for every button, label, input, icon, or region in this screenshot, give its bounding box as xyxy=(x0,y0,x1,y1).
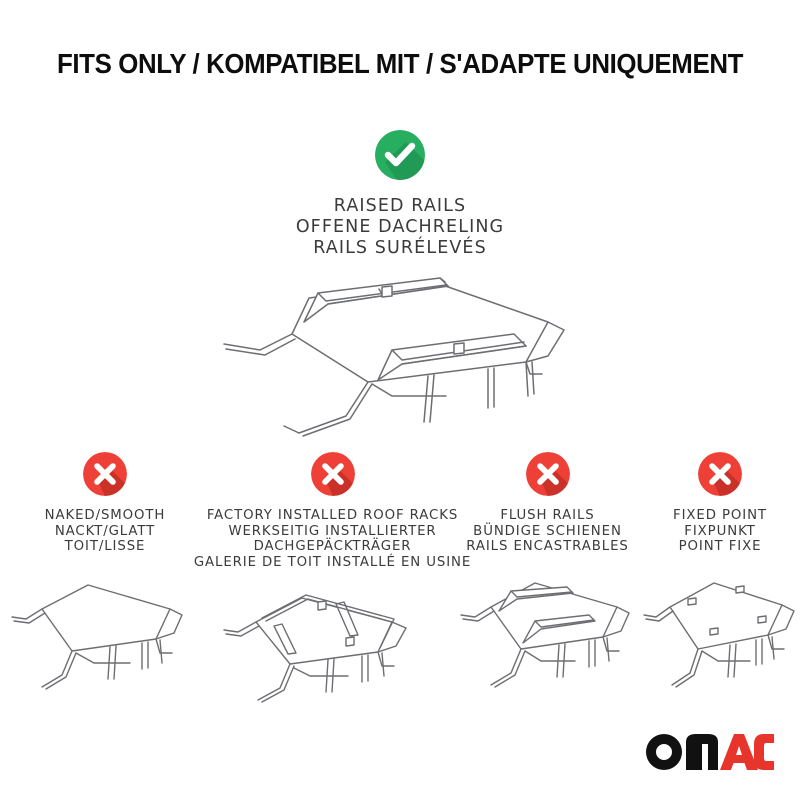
denied-1-line-4: GALERIE DE TOIT INSTALLÉ EN USINE xyxy=(194,555,471,571)
omac-logo-mark xyxy=(646,732,774,772)
denied-0-line-3: TOIT/LISSE xyxy=(45,539,166,555)
x-circle-icon xyxy=(311,452,355,496)
denied-2-line-1: FLUSH RAILS xyxy=(466,508,628,524)
compatibility-infographic: FITS ONLY / KOMPATIBEL MIT / S'ADAPTE UN… xyxy=(0,0,800,800)
incompatible-item-naked-smooth: NAKED/SMOOTH NACKT/GLATT TOIT/LISSE xyxy=(0,452,210,713)
incompatible-caption: NAKED/SMOOTH NACKT/GLATT TOIT/LISSE xyxy=(45,508,166,555)
denied-3-line-3: POINT FIXE xyxy=(673,539,767,555)
incompatible-item-fixed-point: FIXED POINT FIXPUNKT POINT FIXE xyxy=(640,452,800,713)
approved-line-1: RAISED RAILS xyxy=(296,196,504,217)
x-circle-icon xyxy=(83,452,127,496)
page-title: FITS ONLY / KOMPATIBEL MIT / S'ADAPTE UN… xyxy=(24,48,776,80)
check-circle-icon xyxy=(375,130,425,180)
approved-line-3: RAILS SURÉLEVÉS xyxy=(296,238,504,259)
approved-caption: RAISED RAILS OFFENE DACHRELING RAILS SUR… xyxy=(296,196,504,259)
omac-logo xyxy=(646,732,774,772)
approved-line-2: OFFENE DACHRELING xyxy=(296,217,504,238)
incompatible-caption: FLUSH RAILS BÜNDIGE SCHIENEN RAILS ENCAS… xyxy=(466,508,628,555)
x-circle-icon xyxy=(698,452,742,496)
x-circle-icon xyxy=(526,452,570,496)
denied-2-line-2: BÜNDIGE SCHIENEN xyxy=(466,524,628,540)
denied-2-line-3: RAILS ENCASTRABLES xyxy=(466,539,628,555)
incompatible-caption: FIXED POINT FIXPUNKT POINT FIXE xyxy=(673,508,767,555)
car-roof-naked-smooth-illustration xyxy=(0,563,210,713)
denied-1-line-1: FACTORY INSTALLED ROOF RACKS xyxy=(194,508,471,524)
incompatible-section: NAKED/SMOOTH NACKT/GLATT TOIT/LISSE xyxy=(0,452,800,752)
car-roof-with-fixed-points-illustration xyxy=(640,563,800,713)
incompatible-item-flush-rails: FLUSH RAILS BÜNDIGE SCHIENEN RAILS ENCAS… xyxy=(455,452,640,713)
approved-section: RAISED RAILS OFFENE DACHRELING RAILS SUR… xyxy=(0,130,800,259)
denied-3-line-1: FIXED POINT xyxy=(673,508,767,524)
car-roof-with-factory-crossbars-illustration xyxy=(210,578,455,728)
denied-0-line-1: NAKED/SMOOTH xyxy=(45,508,166,524)
denied-0-line-2: NACKT/GLATT xyxy=(45,524,166,540)
incompatible-caption: FACTORY INSTALLED ROOF RACKS WERKSEITIG … xyxy=(194,508,471,570)
denied-1-line-3: DACHGEPÄCKTRÄGER xyxy=(194,539,471,555)
header: FITS ONLY / KOMPATIBEL MIT / S'ADAPTE UN… xyxy=(0,48,800,80)
incompatible-item-factory-racks: FACTORY INSTALLED ROOF RACKS WERKSEITIG … xyxy=(210,452,455,728)
denied-1-line-2: WERKSEITIG INSTALLIERTER xyxy=(194,524,471,540)
car-roof-with-raised-rails-illustration xyxy=(196,276,626,456)
car-roof-with-flush-rails-illustration xyxy=(455,563,640,713)
denied-3-line-2: FIXPUNKT xyxy=(673,524,767,540)
